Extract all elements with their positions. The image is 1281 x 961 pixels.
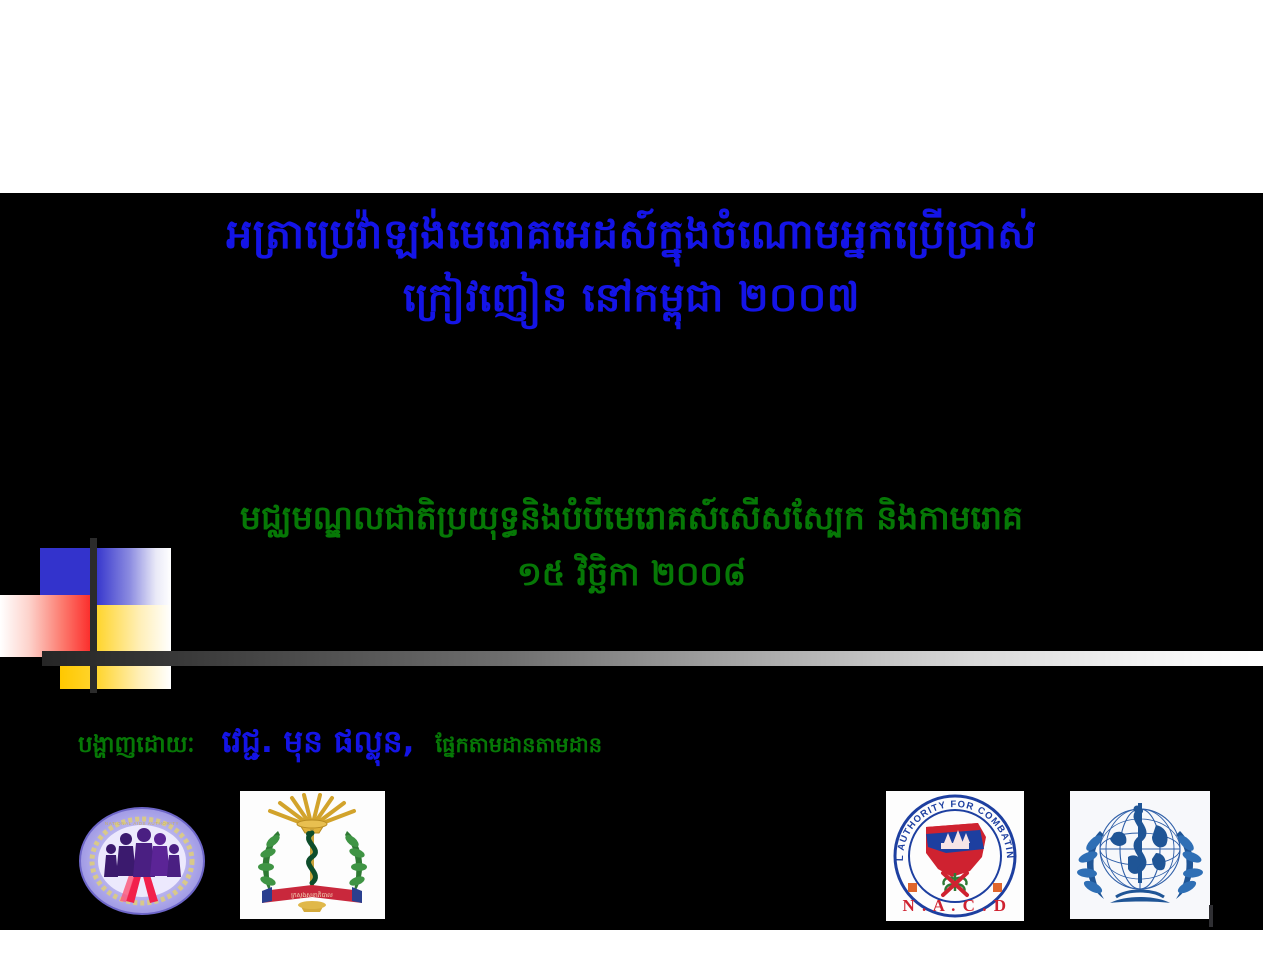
slide-title: អត្រាប្រេវ៉ាឡង់មេរោគអេដស៍ក្នុងចំណោមអ្នកប… xyxy=(0,203,1263,329)
slide-number-placeholder xyxy=(1209,905,1213,927)
presenter-label: បង្ហាញដោយៈ xyxy=(78,732,195,758)
svg-text:N . A . C . D: N . A . C . D xyxy=(903,896,1008,915)
slide-subtitle: មជ្ឈមណ្ឌលជាតិប្រយុទ្ធនិងបំបីមេរោគស៍សេីសស… xyxy=(0,490,1263,602)
organization-name: មជ្ឈមណ្ឌលជាតិប្រយុទ្ធនិងបំបីមេរោគស៍សេីសស… xyxy=(0,490,1263,546)
slide-canvas: អត្រាប្រេវ៉ាឡង់មេរោគអេដស៍ក្នុងចំណោមអ្នកប… xyxy=(0,193,1263,930)
decoration-horizontal-divider xyxy=(42,651,1263,666)
svg-text:NATIONAL AIDS AUTHORITY: NATIONAL AIDS AUTHORITY xyxy=(105,821,179,826)
who-logo xyxy=(1070,791,1210,919)
presenter-department: ផ្នែកតាមដានតាមដាន xyxy=(435,733,602,757)
ministry-of-health-cambodia-logo: ក្រសួងសុខាភិបាល xyxy=(240,791,385,919)
national-aids-authority-logo: NATIONAL AIDS AUTHORITY xyxy=(78,805,206,917)
slide-title-line-2: ក្រៀវញៀន នៅកម្ពុជា ២០០៧ xyxy=(0,267,1263,329)
decoration-red-gradient-rect xyxy=(0,595,96,657)
nacd-logo: NATIONAL AUTHORITY FOR COMBATING DRUGS xyxy=(886,791,1024,921)
slide-title-line-1: អត្រាប្រេវ៉ាឡង់មេរោគអេដស៍ក្នុងចំណោមអ្នកប… xyxy=(0,203,1263,267)
presenter-line: បង្ហាញដោយៈ វេជ្ជ. មុន ផល្លុន, ផ្នែកតាមដា… xyxy=(78,723,1178,768)
presenter-name: វេជ្ជ. មុន ផល្លុន, xyxy=(200,724,431,760)
presentation-date: ១៥ វិច្ឆិកា ២០០៨ xyxy=(0,546,1263,602)
svg-text:ក្រសួងសុខាភិបាល: ក្រសួងសុខាភិបាល xyxy=(291,891,333,899)
